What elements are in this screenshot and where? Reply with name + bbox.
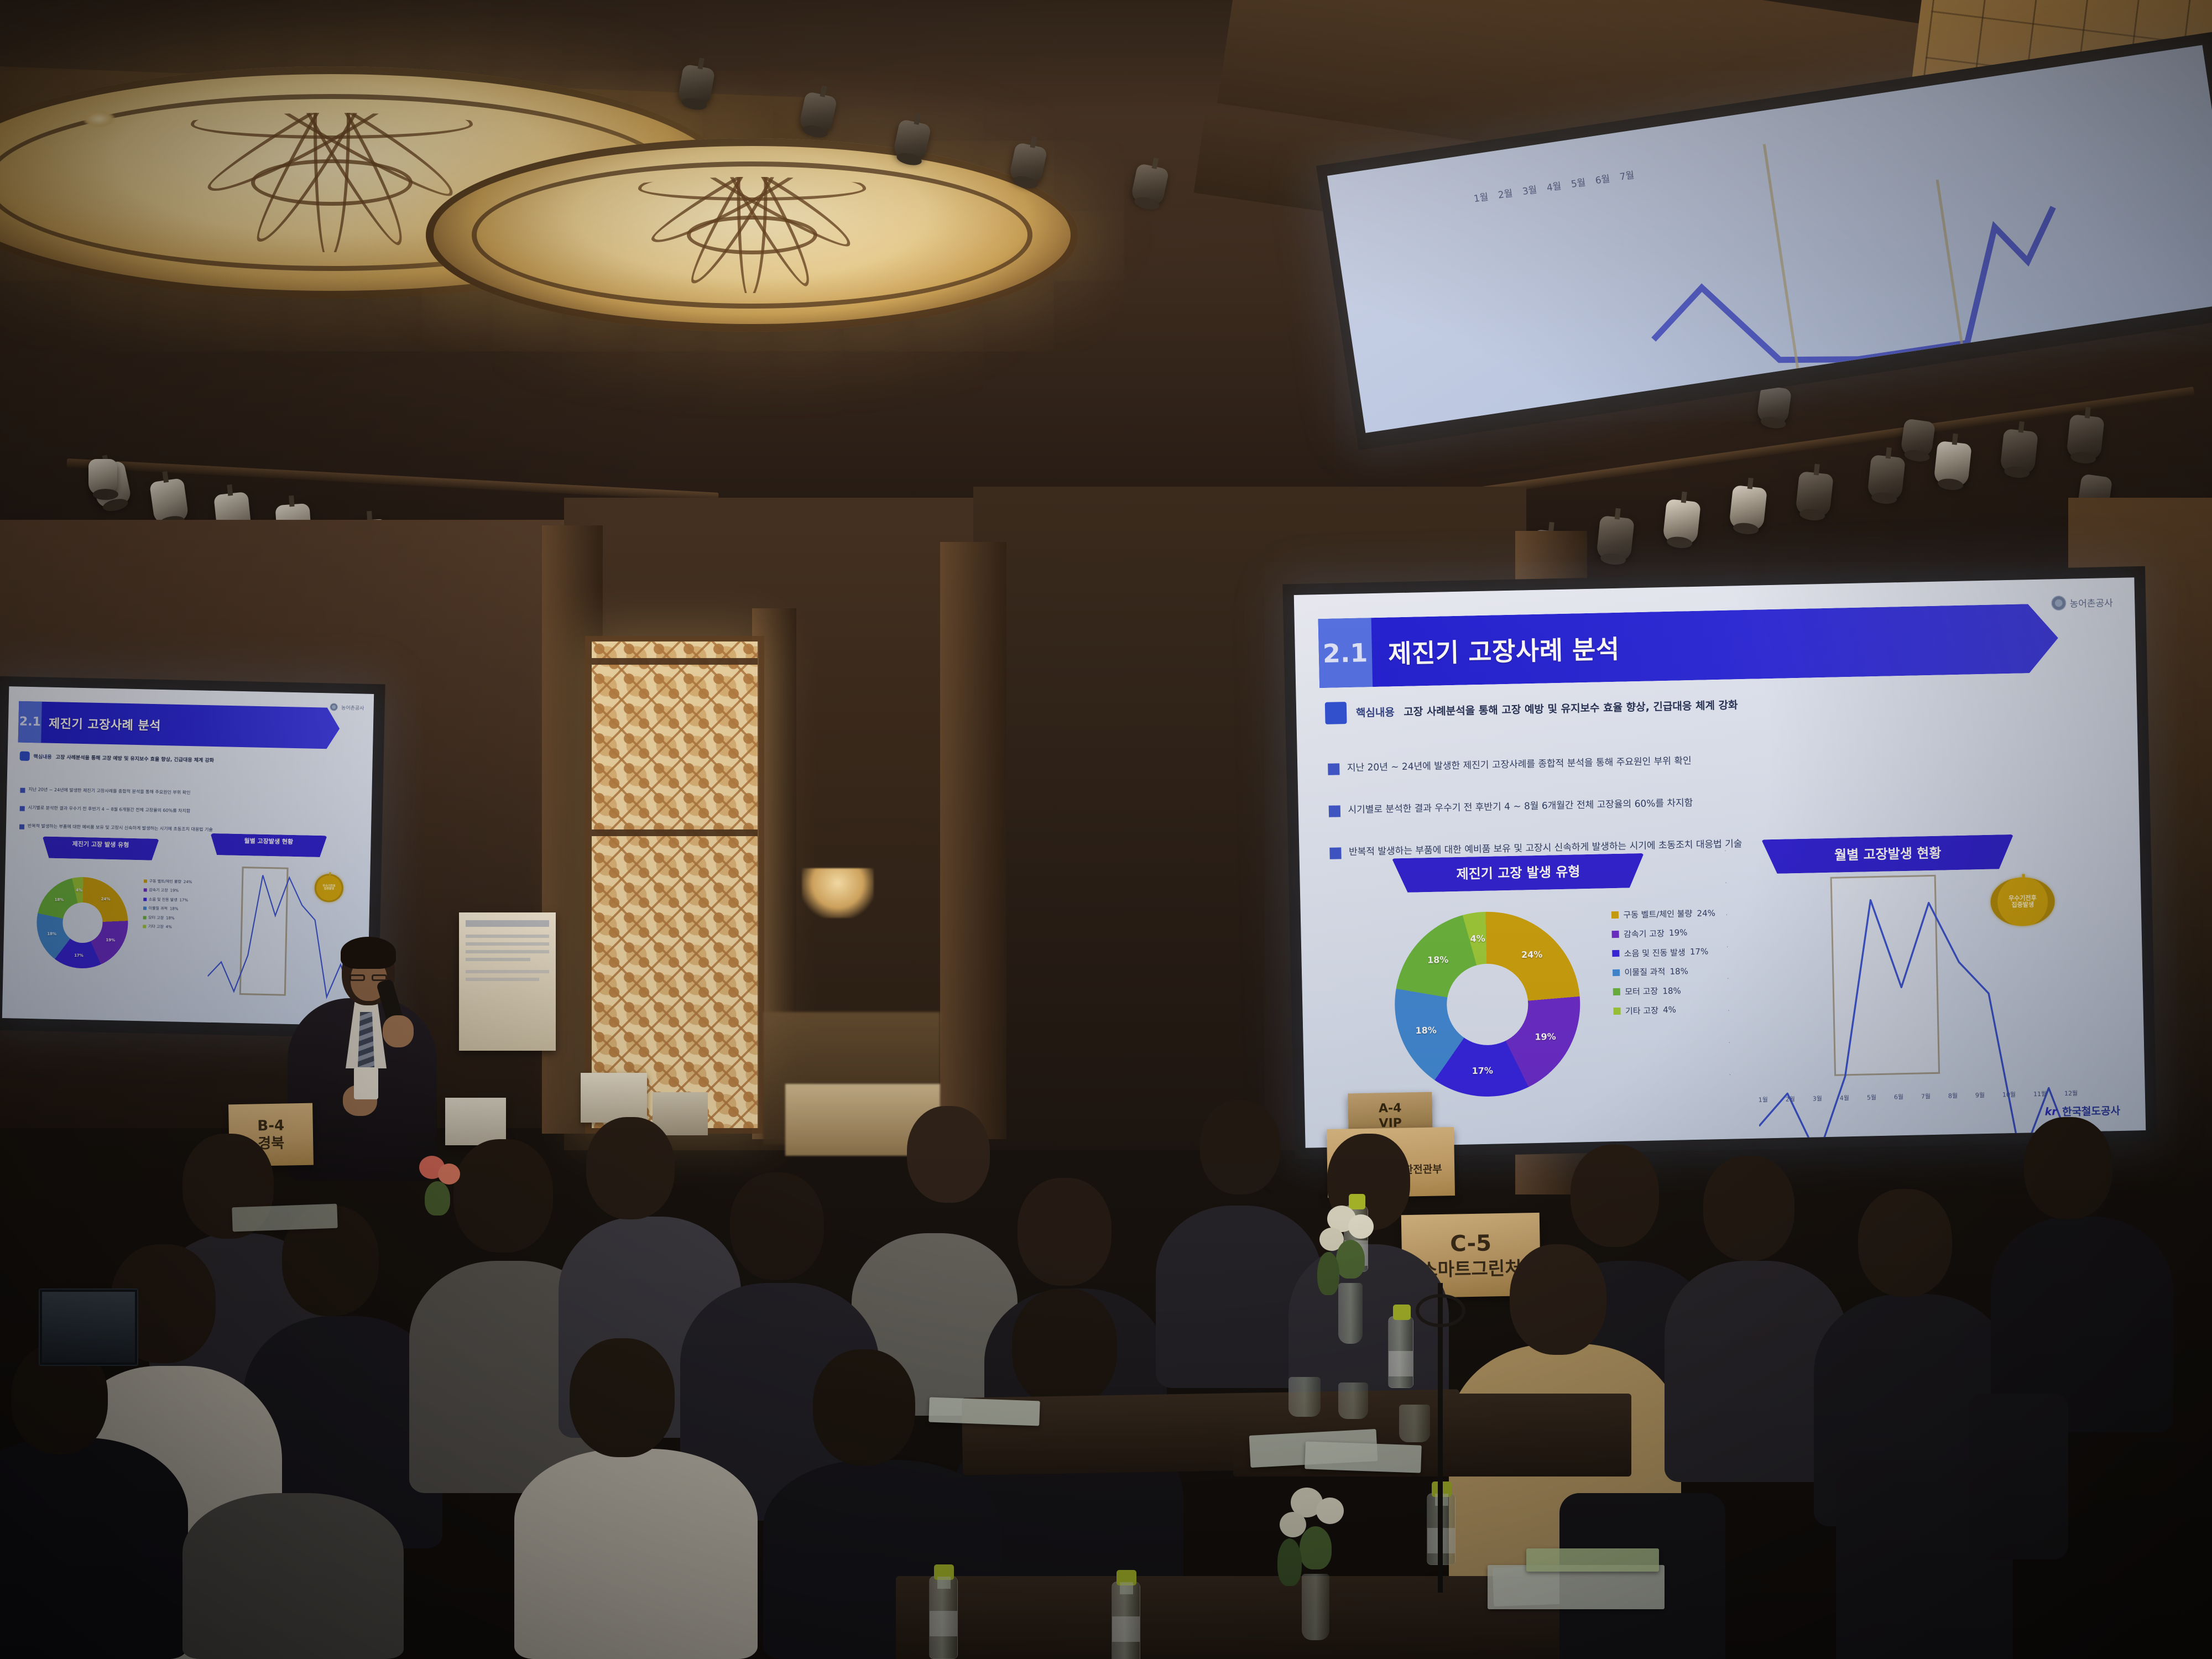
legend-item: 이물질 과적18% [143, 906, 192, 912]
spotlight [1867, 455, 1906, 501]
x-tick-label: 9월 [1975, 1091, 1985, 1099]
legend-swatch [1613, 950, 1620, 957]
chandelier-right [426, 138, 1078, 332]
audience-head [1018, 1178, 1112, 1286]
spotlight [2000, 429, 2038, 475]
y-tick-mark: · [1729, 1072, 1731, 1078]
legend-swatch [1613, 988, 1620, 995]
paper-document [1305, 1441, 1422, 1473]
y-tick-mark: · [1726, 912, 1728, 918]
bag [1969, 1394, 2068, 1559]
x-tick-label: 11월 [2033, 1089, 2047, 1099]
keypoint-text: 고장 사례분석을 통해 고장 예방 및 유지보수 효율 향상, 긴급대응 체계 … [1404, 697, 1738, 719]
audience-member [514, 1449, 758, 1659]
audience-head [813, 1349, 915, 1465]
audience-head [730, 1172, 824, 1280]
legend-swatch [1612, 931, 1619, 938]
slide-header-bar: 2.1 제진기 고장사례 분석 [1318, 603, 2059, 688]
legend-swatch [143, 889, 147, 892]
legend-swatch [144, 879, 147, 883]
y-tick-mark: · [1727, 976, 1729, 982]
audience-head [1200, 1100, 1280, 1194]
left-projection-screen: 2.1 제진기 고장사례 분석 농어촌공사 핵심내용 고장 사례분석을 통해 고… [2, 686, 374, 1026]
slide-bullet: 시기별로 분석한 결과 우수기 전 후반기 4 ~ 8월 6개월간 전체 고장율… [1328, 786, 2102, 817]
legend-value: 19% [170, 889, 179, 893]
donut-ring: 24%19%17%18%18%4% [1393, 910, 1582, 1098]
flower-arrangement [409, 1156, 470, 1261]
water-bottle [929, 1576, 958, 1659]
keypoint-icon [20, 752, 30, 761]
donut-slice-label: 18% [1427, 954, 1449, 966]
left-line-chart: 우수기전후 집중발생 [207, 863, 356, 1005]
notebook [1488, 1565, 1665, 1609]
bullet-dot-icon [1328, 805, 1340, 817]
slide-title: 제진기 고장사례 분석 [1371, 629, 1620, 670]
microphone-stand [1438, 1283, 1443, 1593]
slide-org-logo: 농어촌공사 [2051, 594, 2113, 611]
legend-item: 모터 고장18% [1613, 984, 1717, 998]
audience-head [1571, 1145, 1659, 1247]
y-tick-mark: · [1725, 880, 1726, 886]
audience-member [182, 1493, 404, 1659]
donut-slice-label: 18% [54, 898, 64, 902]
spotlight [1933, 441, 1972, 487]
audience-head [570, 1338, 675, 1457]
y-tick-mark: · [1729, 1040, 1730, 1046]
x-tick-label: 12월 [2064, 1089, 2078, 1098]
legend-swatch [1611, 911, 1619, 919]
audience-head [907, 1106, 990, 1203]
legend-label: 이물질 과적 [148, 906, 168, 912]
microphone-head [1416, 1294, 1465, 1327]
x-tick-label: 6월 [1894, 1092, 1903, 1101]
bullet-dot-icon [1329, 847, 1341, 859]
standing-poster [459, 912, 556, 1051]
legend-item: 모터 고장18% [143, 915, 191, 921]
table-card [445, 1098, 506, 1145]
audience-head [1703, 1156, 1794, 1261]
slide-bullet: 지난 20년 ~ 24년에 발생한 제진기 고장사례를 종합적 분석을 통해 주… [1328, 744, 2101, 775]
legend-label: 구동 벨트/체인 불량 [1623, 907, 1692, 921]
main-projection-screen: 2.1 제진기 고장사례 분석 농어촌공사 핵심내용 고장 사례분석을 통해 고… [1294, 577, 2146, 1148]
spotlight [2066, 414, 2105, 461]
donut-slice-label: 19% [106, 938, 115, 942]
conference-room-photo: 1월2월3월4월5월6월7월 2.1 제진기 고장사례 분석 농어촌공사 핵심내… [0, 0, 2212, 1659]
presenter-hair [341, 937, 396, 969]
x-tick-label: 8월 [1948, 1091, 1958, 1100]
legend-value: 17% [1690, 947, 1709, 957]
donut-legend: 구동 벨트/체인 불량24%감속기 고장19%소음 및 진동 발생17%이물질 … [1611, 907, 1718, 1025]
line-chart: 1월2월3월4월5월6월7월8월9월10월11월12월 ········ 우수기… [1754, 872, 2078, 1100]
donut-slice-label: 24% [101, 897, 110, 901]
left-slide-org-logo: 농어촌공사 [330, 703, 364, 712]
left-donut-panel-title: 제진기 고장 발생 유형 [42, 836, 159, 860]
water-bottle [1112, 1582, 1140, 1659]
flower-arrangement [1316, 1206, 1383, 1349]
slide-section-number: 2.1 [1318, 618, 1373, 688]
legend-value: 18% [170, 907, 179, 911]
audience-head [1510, 1244, 1606, 1355]
donut-slice-label: 17% [1472, 1065, 1493, 1076]
org-logo-mark [2051, 596, 2067, 611]
legend-label: 소음 및 진동 발생 [149, 896, 178, 902]
left-slide-number: 2.1 [18, 701, 42, 743]
sticky-note [1526, 1548, 1659, 1572]
legend-item: 이물질 과적18% [1613, 965, 1717, 979]
y-tick-mark: · [1724, 848, 1726, 854]
spotlight [1729, 485, 1767, 531]
legend-item: 소음 및 진동 발생17% [1613, 946, 1717, 959]
legend-item: 감속기 고장19% [143, 888, 192, 894]
spotlight [1662, 499, 1701, 545]
x-tick-label: 3월 [1813, 1094, 1822, 1103]
donut-slice-label: 18% [1415, 1025, 1437, 1036]
presenter-hand-right [383, 1015, 414, 1047]
donut-slice-label: 18% [47, 932, 56, 936]
donut-slice-label: 17% [74, 953, 84, 957]
flower-arrangement [1277, 1488, 1355, 1642]
legend-value: 18% [1670, 966, 1688, 977]
legend-swatch [143, 916, 146, 919]
legend-value: 17% [179, 898, 188, 902]
legend-swatch [143, 925, 146, 928]
audience-head [1858, 1189, 1952, 1297]
legend-label: 구동 벨트/체인 불량 [149, 879, 182, 885]
audience-head [586, 1117, 675, 1219]
legend-item: 감속기 고장19% [1612, 926, 1716, 940]
korail-logo-text: 한국철도공사 [2062, 1103, 2120, 1119]
donut-slice-label: 4% [1470, 933, 1485, 944]
lattice-divider [592, 830, 758, 836]
left-slide-title: 제진기 고장사례 분석 [41, 713, 161, 734]
legend-label: 감속기 고장 [1624, 927, 1665, 940]
donut-chart: 24%19%17%18%18%4% [1393, 910, 1582, 1098]
downlight [83, 111, 115, 127]
y-tick-mark: · [1726, 944, 1728, 950]
korail-logo-mark: kr [2044, 1105, 2057, 1118]
lattice-divider [592, 658, 758, 665]
line-chart-y-ticks: ········ [1724, 848, 1731, 1078]
keypoint-tag: 핵심내용 [1356, 705, 1395, 720]
legend-item: 기타 고장4% [1614, 1003, 1718, 1017]
audience-head [1012, 1288, 1117, 1407]
legend-value: 4% [1663, 1005, 1676, 1015]
legend-value: 18% [166, 916, 175, 920]
paper-document [232, 1204, 337, 1232]
drinking-glass [1338, 1383, 1368, 1419]
left-slide-keypoint: 핵심내용 고장 사례분석을 통해 고장 예방 및 유지보수 효율 향상, 긴급대… [20, 752, 348, 768]
legend-item: 기타 고장4% [143, 924, 191, 931]
legend-label: 모터 고장 [148, 915, 164, 921]
x-tick-label: 7월 [1921, 1092, 1931, 1100]
keypoint-icon [1324, 702, 1347, 724]
left-donut-legend: 구동 벨트/체인 불량24%감속기 고장19%소음 및 진동 발생17%이물질 … [143, 878, 192, 933]
spotlight [1795, 471, 1834, 518]
presenter-badge [354, 1067, 378, 1099]
paper-document [928, 1397, 1040, 1426]
legend-item: 구동 벨트/체인 불량24% [1611, 907, 1715, 921]
legend-item: 구동 벨트/체인 불량24% [144, 878, 192, 885]
spotlight [149, 478, 189, 525]
donut-slice-label: 24% [1521, 950, 1543, 961]
y-tick-mark: · [1728, 1008, 1729, 1014]
left-donut-chart: 24%19%17%18%18%4% [36, 876, 129, 969]
pillar [940, 542, 1006, 1139]
x-tick-label: 2월 [1786, 1094, 1795, 1103]
slide-footer-logo: kr 한국철도공사 [2044, 1103, 2120, 1119]
line-panel-title: 월별 고장발생 현황 [1761, 834, 2014, 874]
donut-panel-title: 제진기 고장 발생 유형 [1392, 853, 1645, 893]
laptop [39, 1288, 138, 1366]
audience-head [2024, 1117, 2112, 1219]
legend-value: 4% [166, 925, 172, 929]
x-tick-label: 10월 [2002, 1090, 2016, 1099]
legend-value: 24% [184, 880, 192, 884]
legend-value: 19% [1669, 928, 1688, 938]
legend-label: 이물질 과적 [1624, 966, 1665, 979]
water-bottle [1388, 1316, 1413, 1388]
legend-value: 24% [1697, 908, 1715, 919]
spotlight [1596, 515, 1635, 562]
legend-label: 기타 고장 [1625, 1004, 1658, 1016]
legend-swatch [1613, 969, 1620, 976]
drinking-glass [1288, 1377, 1321, 1417]
highlight-starburst-badge: 우수기전후 집중발생 [1990, 877, 2055, 926]
small-chandelier [802, 868, 874, 918]
legend-swatch [1614, 1008, 1621, 1015]
org-logo-text: 농어촌공사 [2069, 595, 2113, 610]
donut-slice-label: 4% [76, 888, 82, 892]
legend-swatch [143, 898, 147, 901]
legend-label: 소음 및 진동 발생 [1624, 946, 1686, 959]
table-card [581, 1073, 647, 1123]
x-tick-label: 5월 [1867, 1093, 1876, 1102]
left-slide-header: 2.1 제진기 고장사례 분석 [18, 701, 340, 749]
bullet-dot-icon [1328, 763, 1339, 775]
left-line-panel-title: 월별 고장발생 현황 [210, 833, 327, 857]
spotlight [88, 459, 117, 495]
legend-value: 18% [1662, 985, 1681, 996]
audience-member [0, 1438, 188, 1659]
slide-keypoint-row: 핵심내용 고장 사례분석을 통해 고장 예방 및 유지보수 효율 향상, 긴급대… [1324, 686, 2081, 724]
glasses-icon [349, 974, 388, 981]
legend-label: 감속기 고장 [149, 888, 168, 894]
legend-label: 기타 고장 [148, 924, 164, 930]
x-tick-label: 1월 [1759, 1095, 1768, 1104]
legend-label: 모터 고장 [1625, 985, 1658, 998]
legend-item: 소음 및 진동 발생17% [143, 896, 192, 903]
x-tick-label: 4월 [1840, 1093, 1849, 1102]
legend-swatch [143, 907, 147, 910]
drinking-glass [1399, 1405, 1430, 1442]
donut-slice-label: 19% [1535, 1031, 1556, 1042]
lattice-frame [585, 636, 764, 1134]
